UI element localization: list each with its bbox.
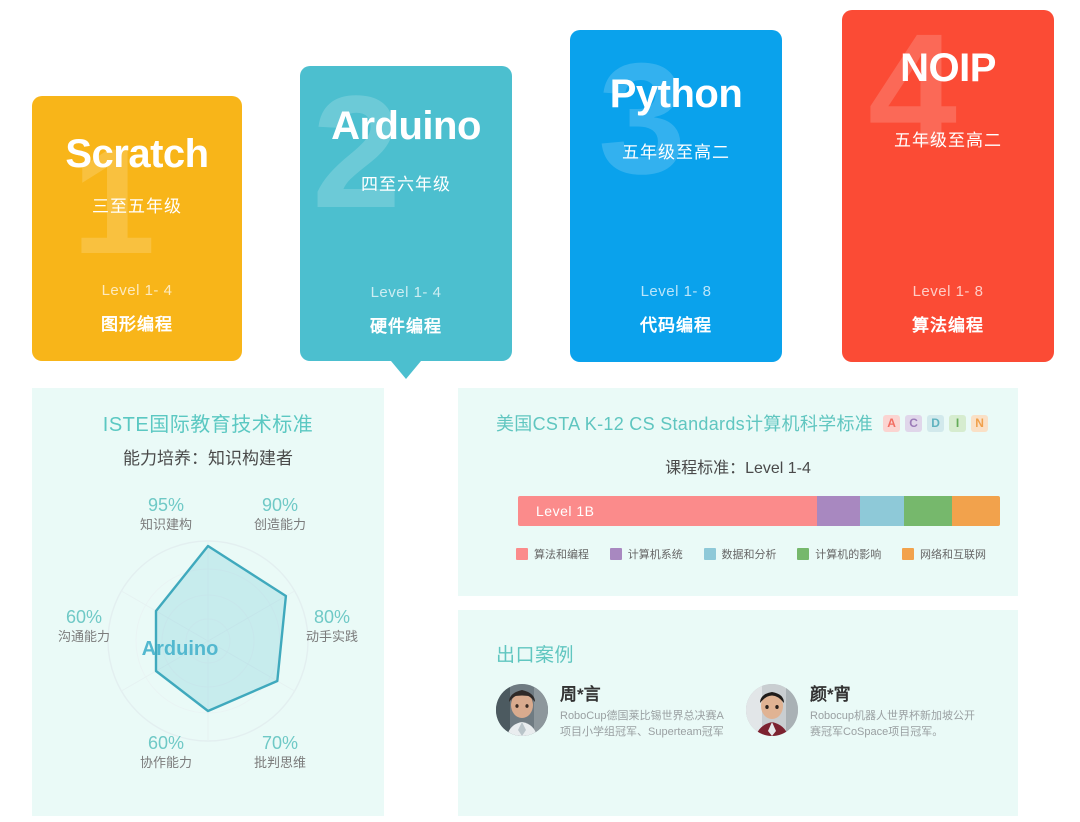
- cases-panel: 出口案例 周*言 RoboCup德国莱比锡世界总决赛: [458, 610, 1018, 816]
- radar-label-4: 60% 协作能力: [124, 732, 208, 772]
- legend-swatch-icon: [797, 548, 809, 560]
- radar-value-0: 95%: [124, 494, 208, 516]
- csta-bar-segment-label: Level 1B: [518, 496, 817, 526]
- case-body: 颜*宵 Robocup机器人世界杯新加坡公开赛冠军CoSpace项目冠军。: [810, 684, 981, 740]
- avatar-photo-2: [746, 684, 798, 736]
- legend-swatch-icon: [704, 548, 716, 560]
- iste-panel: ISTE国际教育技术标准 能力培养：知识构建者 Arduino 95% 知识建构…: [32, 388, 384, 816]
- legend-label: 数据和分析: [722, 546, 777, 562]
- radar-category-2: 动手实践: [290, 628, 374, 646]
- radar-value-4: 60%: [124, 732, 208, 754]
- student-avatar: [496, 684, 548, 736]
- card-index-watermark: 3: [598, 40, 682, 198]
- csta-bar-segment-1[interactable]: [817, 496, 860, 526]
- case-description: RoboCup德国莱比锡世界总决赛A项目小学组冠军、Superteam冠军: [560, 708, 731, 740]
- radar-label-0: 95% 知识建构: [124, 494, 208, 534]
- radar-category-4: 协作能力: [124, 754, 208, 772]
- radar-label-1: 90% 创造能力: [238, 494, 322, 534]
- radar-label-2: 80% 动手实践: [290, 606, 374, 646]
- radar-category-5: 沟通能力: [42, 628, 126, 646]
- card-inner: 3 Python 五年级至高二 Level 1- 8 代码编程: [570, 30, 782, 362]
- csta-legend-item-1: 计算机系统: [610, 546, 683, 562]
- avatar-photo-1: [496, 684, 548, 736]
- iste-title: ISTE国际教育技术标准: [32, 408, 384, 437]
- radar-value-2: 80%: [290, 606, 374, 628]
- legend-label: 计算机的影响: [815, 546, 881, 562]
- csta-bar-segment-0[interactable]: Level 1B: [518, 496, 817, 526]
- radar-value-5: 60%: [42, 606, 126, 628]
- radar-value-1: 90%: [238, 494, 322, 516]
- radar-chart: Arduino 95% 知识建构 90% 创造能力 80% 动手实践 70% 批…: [32, 480, 384, 810]
- cases-list: 周*言 RoboCup德国莱比锡世界总决赛A项目小学组冠军、Superteam冠…: [496, 684, 996, 740]
- case-item[interactable]: 周*言 RoboCup德国莱比锡世界总决赛A项目小学组冠军、Superteam冠…: [496, 684, 731, 740]
- card-level: Level 1- 8: [842, 283, 1054, 300]
- csta-bar-segment-4[interactable]: [952, 496, 1000, 526]
- course-card-noip[interactable]: 4 NOIP 五年级至高二 Level 1- 8 算法编程: [842, 10, 1054, 362]
- card-level: Level 1- 4: [300, 284, 512, 301]
- card-grade: 四至六年级: [300, 170, 512, 195]
- csta-progress-bar[interactable]: Level 1B: [518, 496, 1000, 526]
- csta-legend: 算法和编程计算机系统数据和分析计算机的影响网络和互联网: [516, 546, 986, 562]
- card-course-type: 算法编程: [842, 311, 1054, 336]
- case-body: 周*言 RoboCup德国莱比锡世界总决赛A项目小学组冠军、Superteam冠…: [560, 684, 731, 740]
- case-description: Robocup机器人世界杯新加坡公开赛冠军CoSpace项目冠军。: [810, 708, 981, 740]
- card-course-type: 代码编程: [570, 311, 782, 336]
- case-name: 周*言: [560, 684, 731, 706]
- csta-badge-d[interactable]: D: [927, 415, 944, 432]
- selected-card-pointer-icon: [391, 361, 421, 379]
- course-cards-row: 1 Scratch 三至五年级 Level 1- 4 图形编程 2 Arduin…: [0, 0, 1080, 380]
- card-course-type: 硬件编程: [300, 312, 512, 337]
- student-avatar: [746, 684, 798, 736]
- csta-title: 美国CSTA K-12 CS Standards计算机科学标准: [496, 410, 873, 436]
- csta-panel: 美国CSTA K-12 CS Standards计算机科学标准 ACDIN 课程…: [458, 388, 1018, 596]
- card-level: Level 1- 8: [570, 283, 782, 300]
- card-inner: 1 Scratch 三至五年级 Level 1- 4 图形编程: [32, 96, 242, 361]
- csta-badge-c[interactable]: C: [905, 415, 922, 432]
- csta-legend-item-4: 网络和互联网: [902, 546, 986, 562]
- legend-swatch-icon: [610, 548, 622, 560]
- csta-bar-segment-3[interactable]: [904, 496, 952, 526]
- card-title: NOIP: [842, 46, 1054, 91]
- card-course-type: 图形编程: [32, 310, 242, 335]
- csta-badge-group: ACDIN: [883, 415, 993, 432]
- case-item[interactable]: 颜*宵 Robocup机器人世界杯新加坡公开赛冠军CoSpace项目冠军。: [746, 684, 981, 740]
- csta-badge-i[interactable]: I: [949, 415, 966, 432]
- card-inner: 2 Arduino 四至六年级 Level 1- 4 硬件编程: [300, 66, 512, 361]
- legend-swatch-icon: [516, 548, 528, 560]
- card-title: Scratch: [32, 132, 242, 177]
- course-card-python[interactable]: 3 Python 五年级至高二 Level 1- 8 代码编程: [570, 30, 782, 362]
- csta-badge-a[interactable]: A: [883, 415, 900, 432]
- cases-title: 出口案例: [496, 640, 574, 667]
- card-grade: 三至五年级: [32, 192, 242, 217]
- card-grade: 五年级至高二: [842, 126, 1054, 151]
- radar-category-3: 批判思维: [238, 754, 322, 772]
- csta-legend-item-2: 数据和分析: [704, 546, 777, 562]
- radar-label-3: 70% 批判思维: [238, 732, 322, 772]
- csta-bar-segment-2[interactable]: [860, 496, 903, 526]
- legend-label: 算法和编程: [534, 546, 589, 562]
- legend-label: 计算机系统: [628, 546, 683, 562]
- course-card-scratch[interactable]: 1 Scratch 三至五年级 Level 1- 4 图形编程: [32, 96, 242, 361]
- course-card-arduino[interactable]: 2 Arduino 四至六年级 Level 1- 4 硬件编程: [300, 66, 512, 361]
- iste-subtitle: 能力培养：知识构建者: [32, 444, 384, 469]
- radar-series-polygon: [156, 546, 286, 711]
- radar-value-3: 70%: [238, 732, 322, 754]
- csta-legend-item-0: 算法和编程: [516, 546, 589, 562]
- radar-category-0: 知识建构: [124, 516, 208, 534]
- radar-label-5: 60% 沟通能力: [42, 606, 126, 646]
- card-index-watermark: 2: [312, 72, 397, 232]
- csta-legend-item-3: 计算机的影响: [797, 546, 881, 562]
- csta-header: 美国CSTA K-12 CS Standards计算机科学标准 ACDIN: [496, 410, 993, 436]
- card-title: Arduino: [300, 104, 512, 149]
- legend-label: 网络和互联网: [920, 546, 986, 562]
- card-grade: 五年级至高二: [570, 138, 782, 163]
- radar-category-1: 创造能力: [238, 516, 322, 534]
- legend-swatch-icon: [902, 548, 914, 560]
- csta-standard-label: 课程标准：Level 1-4: [458, 454, 1018, 478]
- case-name: 颜*宵: [810, 684, 981, 706]
- card-level: Level 1- 4: [32, 282, 242, 299]
- card-title: Python: [570, 72, 782, 117]
- card-inner: 4 NOIP 五年级至高二 Level 1- 8 算法编程: [842, 10, 1054, 362]
- csta-badge-n[interactable]: N: [971, 415, 988, 432]
